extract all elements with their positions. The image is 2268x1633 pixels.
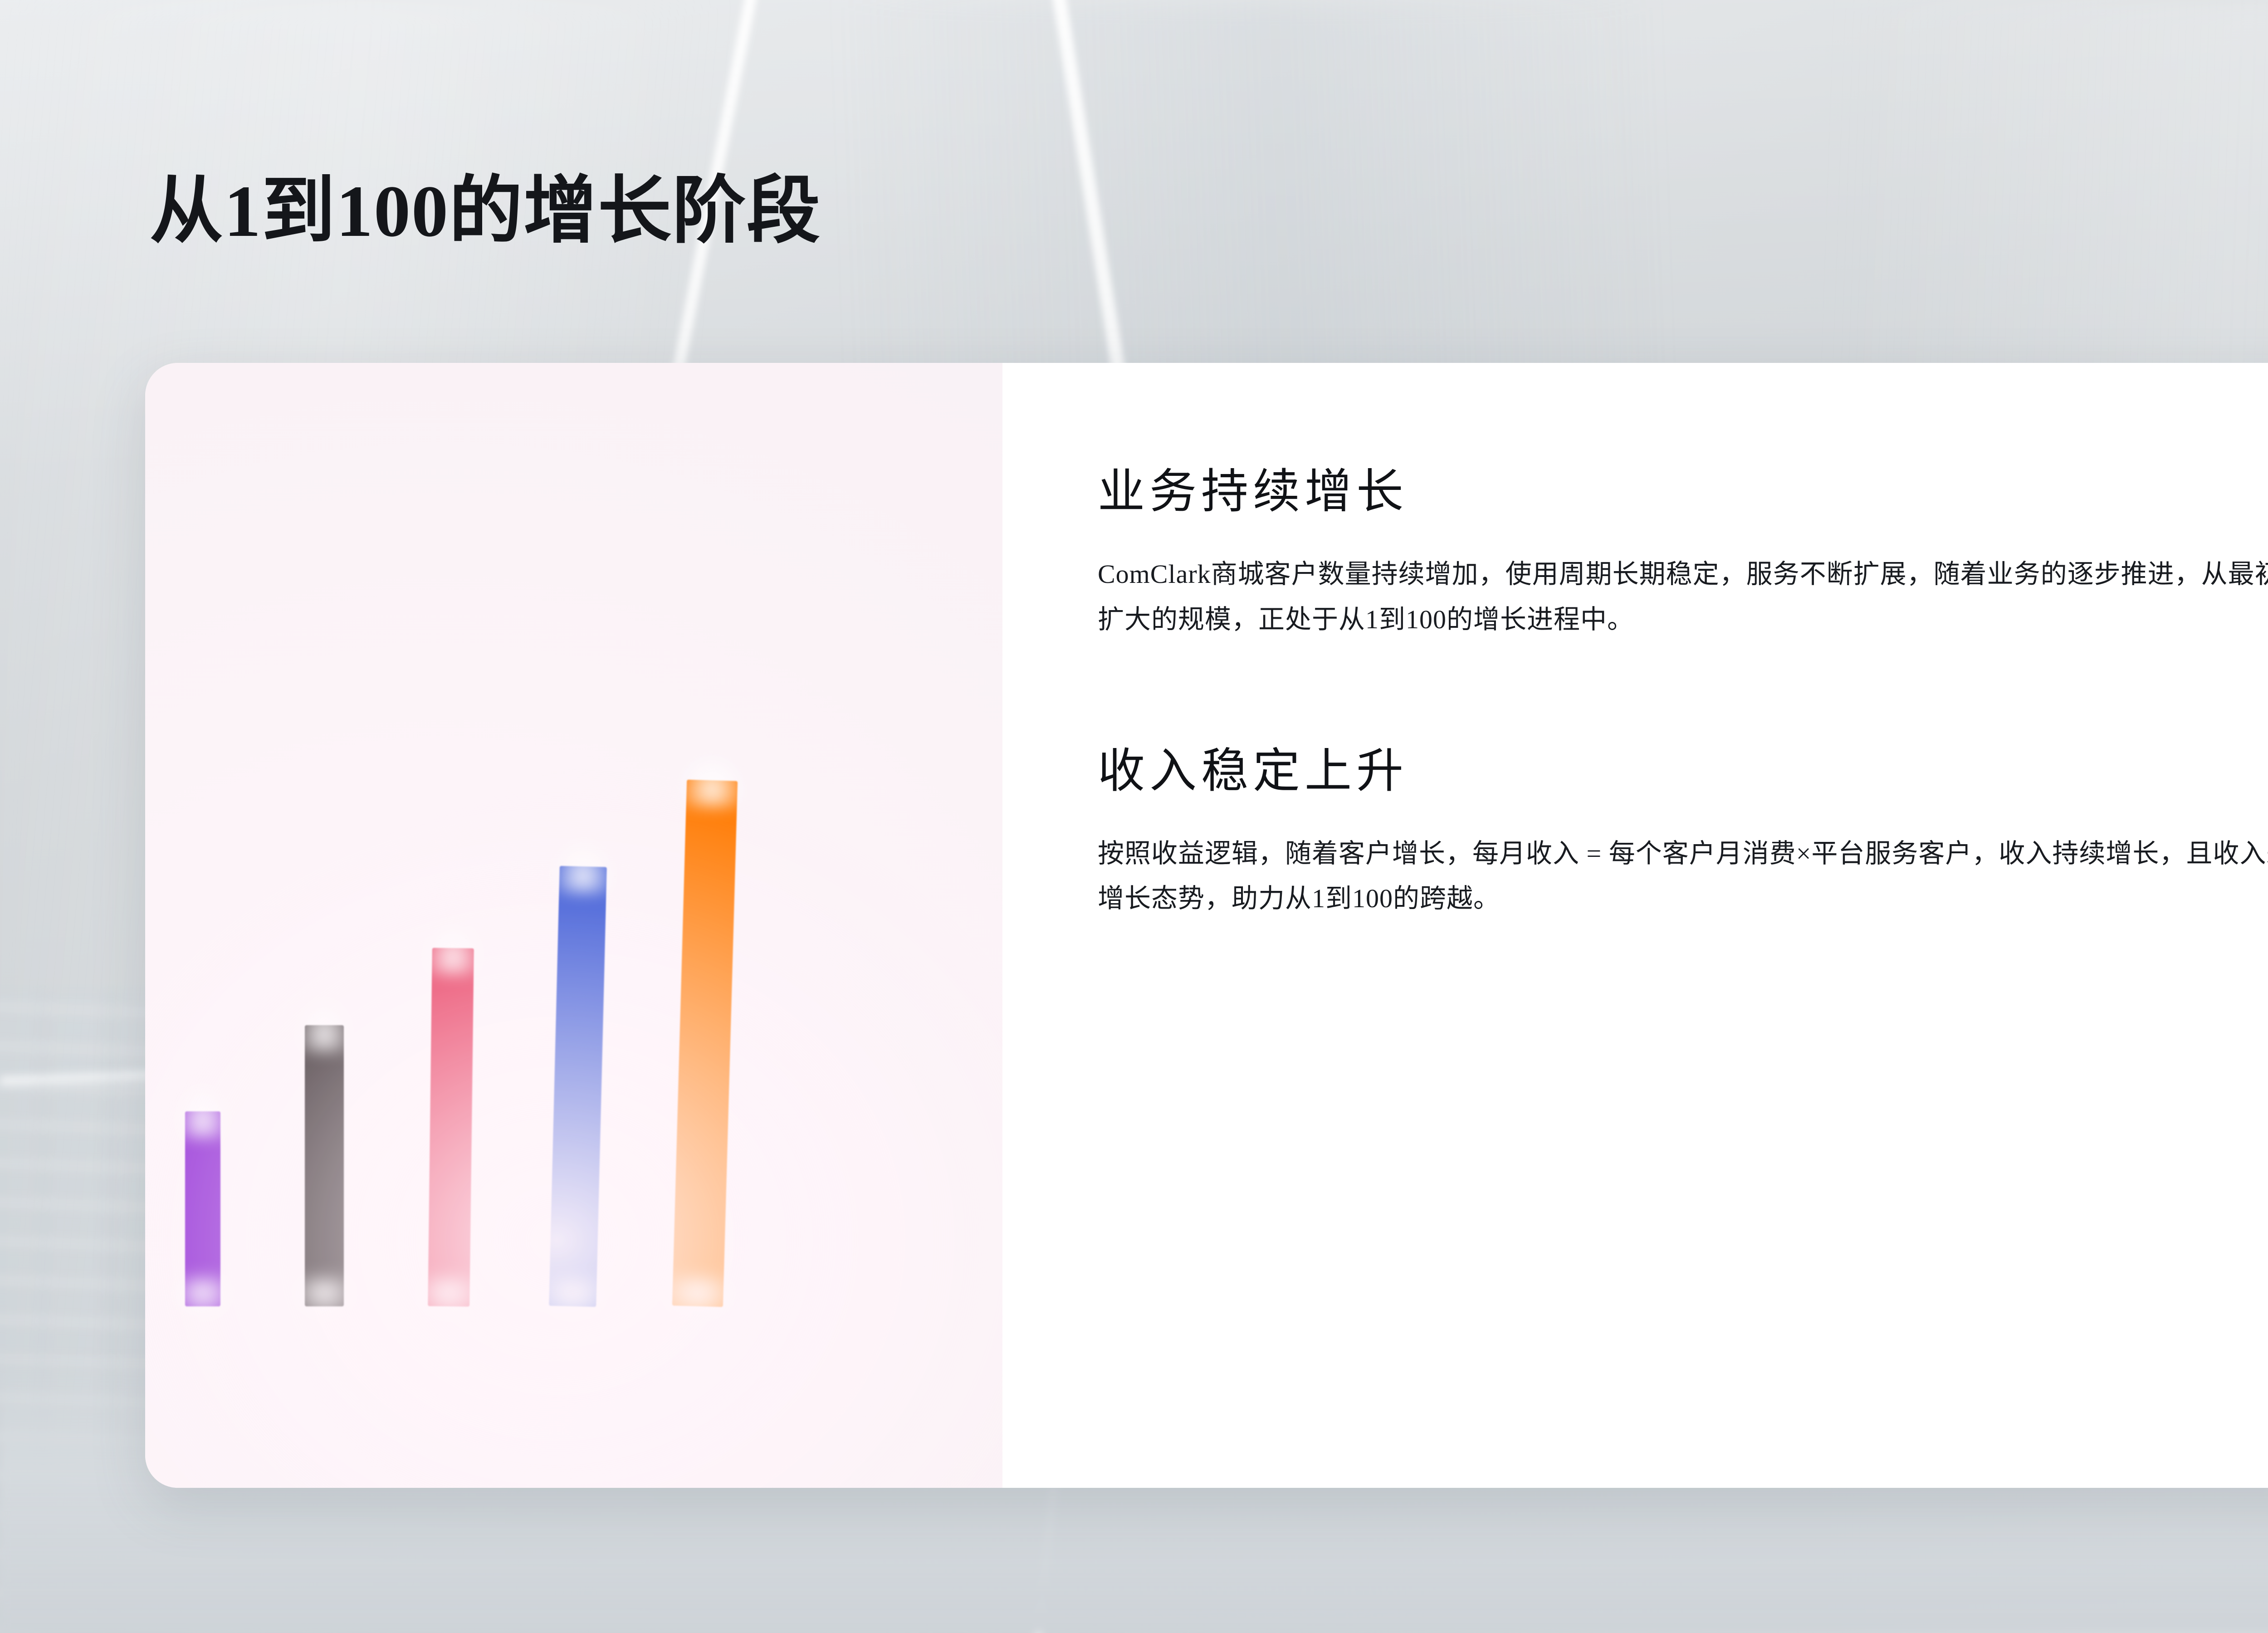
growth-bar-chart-photo — [145, 363, 1002, 1488]
chart-bar-5 — [672, 780, 738, 1307]
chart-bar-4 — [549, 866, 607, 1307]
section-body: ComClark商城客户数量持续增加，使用周期长期稳定，服务不断扩展，随着业务的… — [1098, 552, 2268, 642]
section-heading: 收入稳定上升 — [1098, 742, 2268, 801]
chart-bar-3 — [428, 948, 474, 1306]
section-paragraph: 按照收益逻辑，随着客户增长，每月收入 = 每个客户月消费×平台服务客户，收入持续… — [1098, 831, 2268, 922]
section-body: 按照收益逻辑，随着客户增长，每月收入 = 每个客户月消费×平台服务客户，收入持续… — [1098, 831, 2268, 922]
section-revenue-growth: 收入稳定上升 按照收益逻辑，随着客户增长，每月收入 = 每个客户月消费×平台服务… — [1098, 742, 2268, 922]
text-panel: 业务持续增长 ComClark商城客户数量持续增加，使用周期长期稳定，服务不断扩… — [1002, 363, 2268, 1488]
slide-root: 从1到100的增长阶段 业务持续增长 ComClark商城客户数量持续增加，使用… — [0, 0, 2268, 1633]
page-title: 从1到100的增长阶段 — [150, 168, 821, 255]
content-card: 业务持续增长 ComClark商城客户数量持续增加，使用周期长期稳定，服务不断扩… — [145, 363, 2268, 1488]
chart-bar-2 — [305, 1025, 344, 1306]
section-paragraph: ComClark商城客户数量持续增加，使用周期长期稳定，服务不断扩展，随着业务的… — [1098, 552, 2268, 642]
section-business-growth: 业务持续增长 ComClark商城客户数量持续增加，使用周期长期稳定，服务不断扩… — [1098, 463, 2268, 642]
chart-bar-1 — [185, 1111, 220, 1306]
section-heading: 业务持续增长 — [1098, 463, 2268, 522]
